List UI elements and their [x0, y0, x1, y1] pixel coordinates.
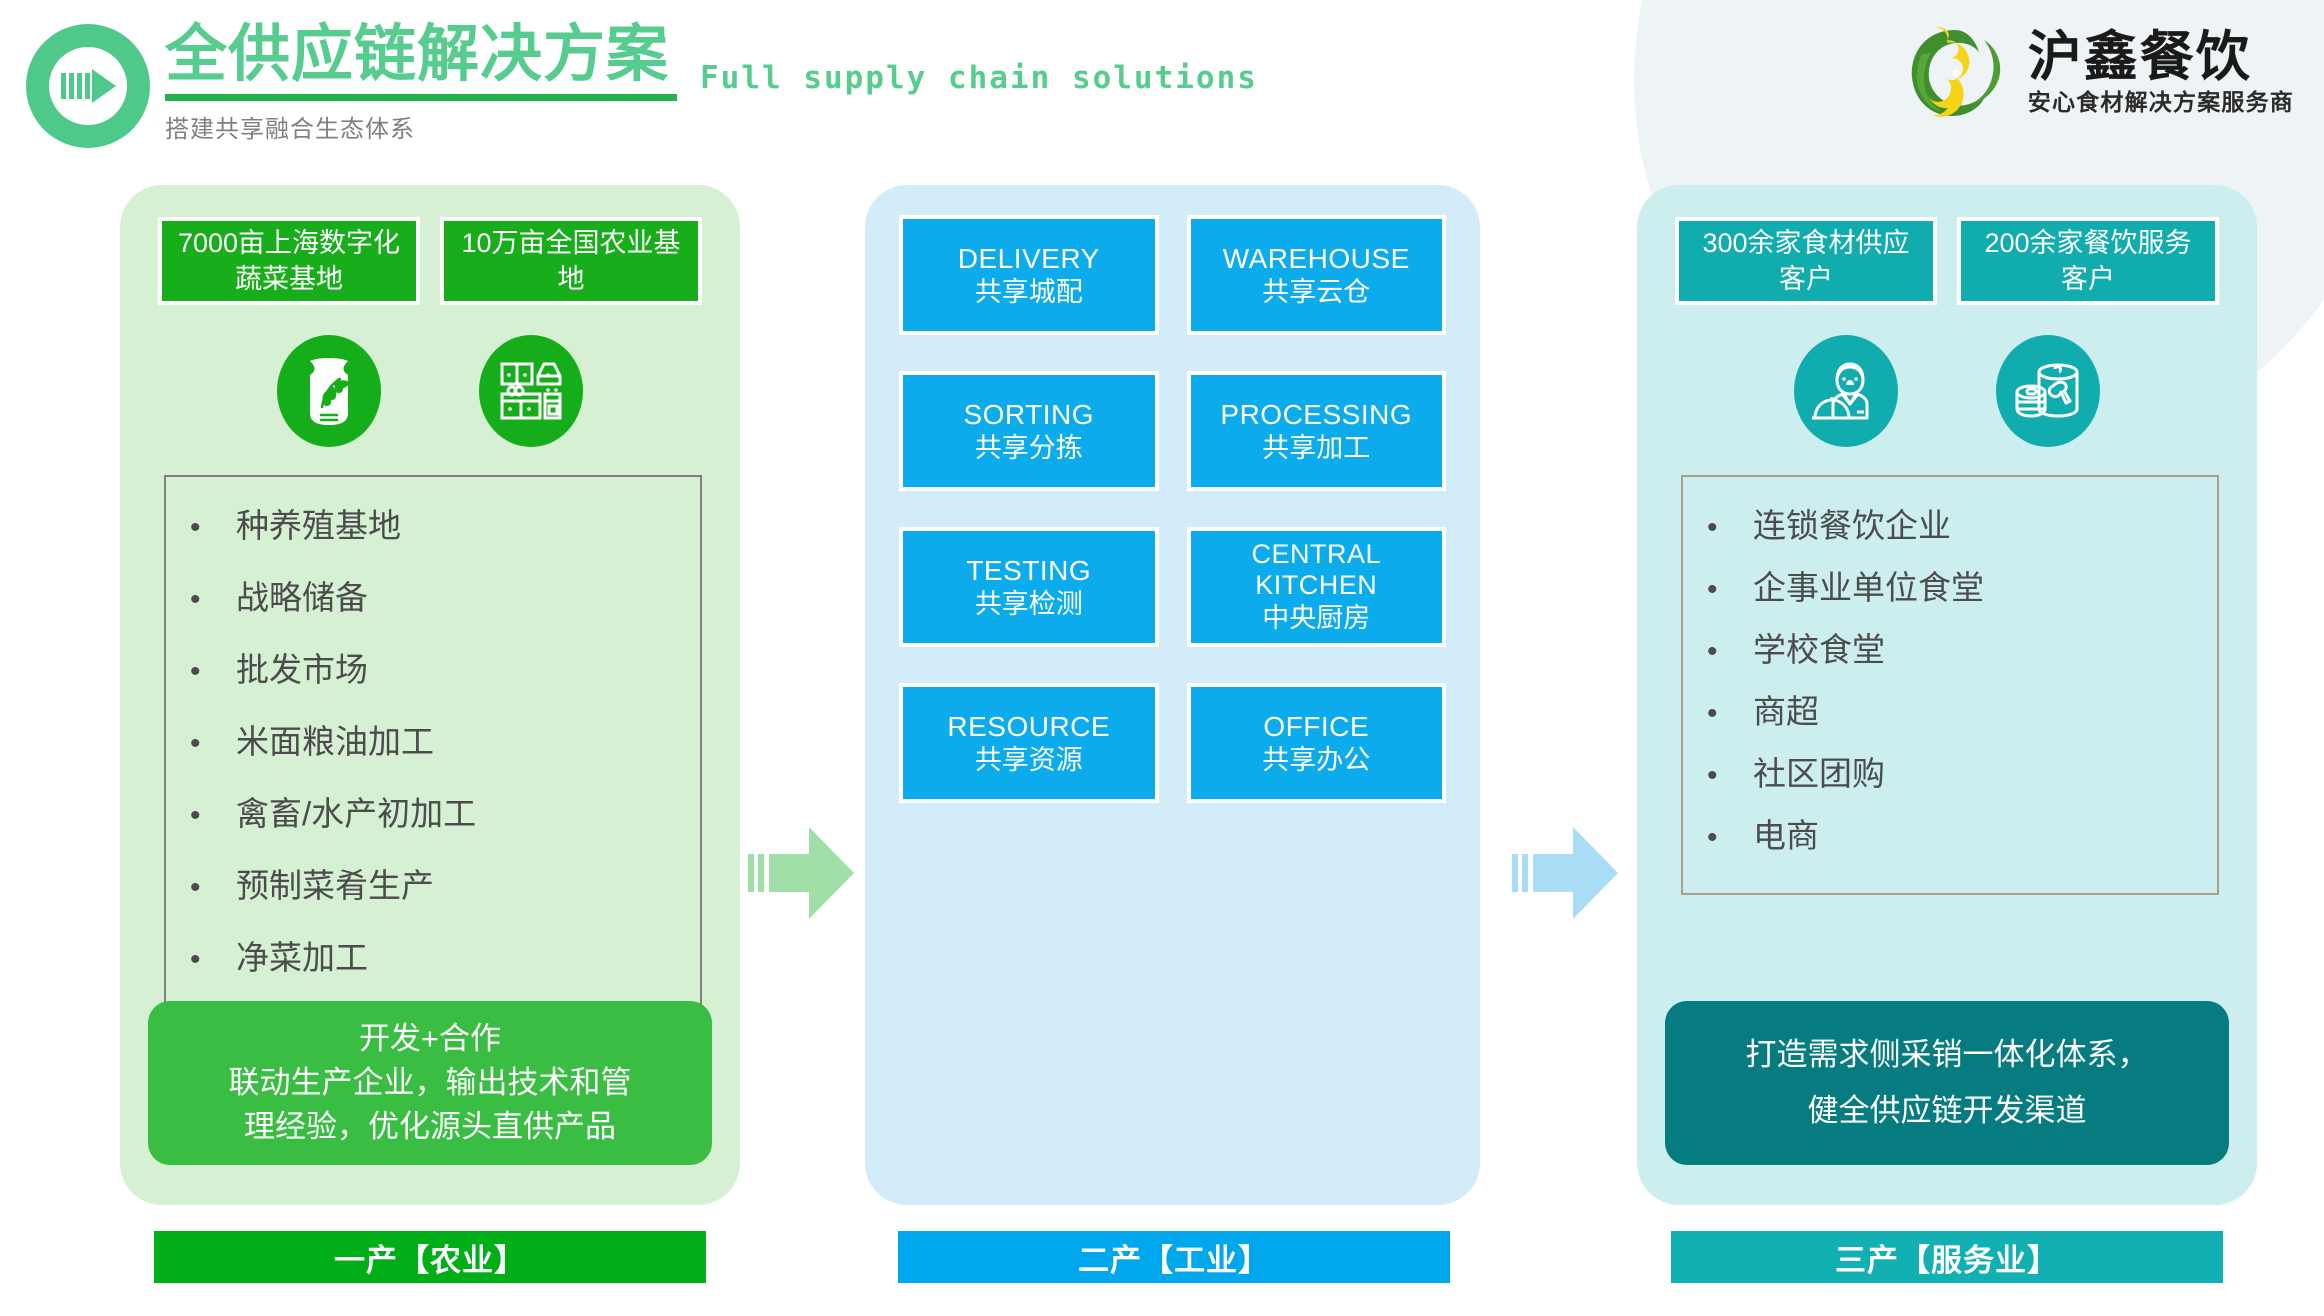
bullet-marker: •	[1707, 635, 1753, 669]
page-title: 全供应链解决方案	[165, 18, 677, 92]
list-item-label: 商超	[1753, 685, 1819, 733]
summary-line: 联动生产企业，输出技术和管	[170, 1061, 690, 1105]
bullet-marker: •	[1707, 821, 1753, 855]
brand-name: 沪鑫餐饮	[2028, 30, 2294, 84]
bullet-marker: •	[190, 871, 236, 905]
tile-sorting[interactable]: SORTING 共享分拣	[899, 371, 1159, 491]
list-item: • 电商	[1707, 809, 2205, 857]
bullet-marker: •	[190, 727, 236, 761]
bullet-marker: •	[190, 799, 236, 833]
list-item-label: 社区团购	[1753, 747, 1885, 795]
badge-catering-clients[interactable]: 200余家餐饮服务客户	[1957, 217, 2219, 305]
dragon-brush-circle-logo-icon	[1896, 16, 2014, 128]
secondary-panel: DELIVERY 共享城配 WAREHOUSE 共享云仓 SORTING 共享分…	[865, 185, 1480, 1205]
summary-line: 健全供应链开发渠道	[1687, 1083, 2207, 1139]
list-item: • 企事业单位食堂	[1707, 561, 2205, 609]
list-item: • 禽畜/水产初加工	[190, 787, 688, 835]
tile-label-en: SORTING	[963, 398, 1094, 431]
waiter-service-icon	[1794, 335, 1898, 447]
list-item-label: 米面粮油加工	[236, 715, 434, 763]
footer-label-primary: 一产【农业】	[154, 1231, 706, 1283]
primary-badge-row: 7000亩上海数字化蔬菜基地 10万亩全国农业基地	[148, 217, 712, 305]
summary-line: 打造需求侧采销一体化体系，	[1687, 1027, 2207, 1083]
header-title-group: 全供应链解决方案 搭建共享融合生态体系	[165, 18, 677, 144]
grain-sack-icon	[277, 335, 381, 447]
tertiary-badge-row: 300余家食材供应客户 200余家餐饮服务客户	[1665, 217, 2229, 305]
list-item: • 净菜加工	[190, 931, 688, 979]
tile-testing[interactable]: TESTING 共享检测	[899, 527, 1159, 647]
bullet-marker: •	[1707, 697, 1753, 731]
tile-label-cn: 共享城配	[975, 275, 1083, 309]
primary-panel: 7000亩上海数字化蔬菜基地 10万亩全国农业基地	[120, 185, 740, 1205]
bullet-marker: •	[1707, 511, 1753, 545]
tile-label-cn: 共享办公	[1262, 743, 1370, 777]
bullet-marker: •	[190, 511, 236, 545]
tile-office[interactable]: OFFICE 共享办公	[1187, 683, 1447, 803]
list-item: • 社区团购	[1707, 747, 2205, 795]
list-item-label: 预制菜肴生产	[236, 859, 434, 907]
column-primary-industry: 7000亩上海数字化蔬菜基地 10万亩全国农业基地	[120, 185, 740, 1205]
tile-label-cn: 共享资源	[975, 743, 1083, 777]
flow-arrow-green	[748, 823, 858, 928]
tile-central-kitchen[interactable]: CENTRAL KITCHEN 中央厨房	[1187, 527, 1447, 647]
tertiary-panel: 300余家食材供应客户 200余家餐饮服务客户	[1637, 185, 2257, 1205]
list-item: • 预制菜肴生产	[190, 859, 688, 907]
column-tertiary-industry: 300余家食材供应客户 200余家餐饮服务客户	[1637, 185, 2257, 1205]
list-item-label: 种养殖基地	[236, 499, 401, 547]
supply-chain-board: 7000亩上海数字化蔬菜基地 10万亩全国农业基地	[0, 185, 2324, 1316]
fast-forward-circle-icon	[26, 24, 150, 148]
tile-label-en: RESOURCE	[947, 710, 1110, 743]
tertiary-customer-list: • 连锁餐饮企业 • 企事业单位食堂 • 学校食堂 • 商超 • 社区团购	[1681, 475, 2219, 895]
footer-label-secondary: 二产【工业】	[898, 1231, 1450, 1283]
tile-label-en: CENTRAL KITCHEN	[1191, 539, 1443, 601]
column-secondary-industry: DELIVERY 共享城配 WAREHOUSE 共享云仓 SORTING 共享分…	[865, 185, 1480, 1205]
list-item: • 米面粮油加工	[190, 715, 688, 763]
flow-arrow-blue	[1512, 823, 1622, 928]
list-item-label: 电商	[1753, 809, 1819, 857]
list-item: • 战略储备	[190, 571, 688, 619]
tile-label-en: WAREHOUSE	[1223, 242, 1410, 275]
tile-label-en: DELIVERY	[958, 242, 1100, 275]
tile-label-cn: 共享分拣	[975, 431, 1083, 465]
list-item: • 连锁餐饮企业	[1707, 499, 2205, 547]
bullet-marker: •	[190, 655, 236, 689]
shared-service-tile-grid: DELIVERY 共享城配 WAREHOUSE 共享云仓 SORTING 共享分…	[893, 211, 1452, 803]
tile-delivery[interactable]: DELIVERY 共享城配	[899, 215, 1159, 335]
primary-summary-card: 开发+合作 联动生产企业，输出技术和管 理经验，优化源头直供产品	[148, 1001, 712, 1165]
bullet-marker: •	[190, 943, 236, 977]
tile-label-cn: 共享云仓	[1262, 275, 1370, 309]
tile-processing[interactable]: PROCESSING 共享加工	[1187, 371, 1447, 491]
summary-line: 理经验，优化源头直供产品	[170, 1105, 690, 1149]
badge-vegetable-base[interactable]: 7000亩上海数字化蔬菜基地	[158, 217, 420, 305]
list-item: • 学校食堂	[1707, 623, 2205, 671]
tile-label-en: PROCESSING	[1220, 398, 1412, 431]
badge-ingredient-clients[interactable]: 300余家食材供应客户	[1675, 217, 1937, 305]
list-item: • 商超	[1707, 685, 2205, 733]
tertiary-icon-row	[1665, 335, 2229, 447]
tile-label-cn: 中央厨房	[1262, 601, 1370, 635]
tertiary-summary-card: 打造需求侧采销一体化体系， 健全供应链开发渠道	[1665, 1001, 2229, 1165]
tile-resource[interactable]: RESOURCE 共享资源	[899, 683, 1159, 803]
tile-label-cn: 共享检测	[975, 587, 1083, 621]
list-item-label: 批发市场	[236, 643, 368, 691]
primary-capability-list: • 种养殖基地 • 战略储备 • 批发市场 • 米面粮油加工 • 禽畜/水产	[164, 475, 702, 1027]
list-item-label: 企事业单位食堂	[1753, 561, 1984, 609]
canned-food-icon	[1996, 335, 2100, 447]
list-item-label: 净菜加工	[236, 931, 368, 979]
tile-warehouse[interactable]: WAREHOUSE 共享云仓	[1187, 215, 1447, 335]
bullet-marker: •	[1707, 759, 1753, 793]
page-title-english: Full supply chain solutions	[700, 60, 1258, 96]
list-item-label: 战略储备	[236, 571, 368, 619]
page-subtitle: 搭建共享融合生态体系	[165, 109, 677, 144]
primary-icon-row	[148, 335, 712, 447]
bullet-marker: •	[190, 583, 236, 617]
tile-label-cn: 共享加工	[1262, 431, 1370, 465]
bullet-marker: •	[1707, 573, 1753, 607]
list-item-label: 连锁餐饮企业	[1753, 499, 1951, 547]
title-underline	[165, 94, 677, 101]
footer-label-tertiary: 三产【服务业】	[1671, 1231, 2223, 1283]
brand-tagline: 安心食材解决方案服务商	[2028, 91, 2294, 114]
list-item-label: 禽畜/水产初加工	[236, 787, 476, 835]
tile-label-en: OFFICE	[1263, 710, 1369, 743]
summary-line: 开发+合作	[170, 1017, 690, 1061]
list-item-label: 学校食堂	[1753, 623, 1885, 671]
farm-kitchen-building-icon	[479, 335, 583, 447]
list-item: • 种养殖基地	[190, 499, 688, 547]
tile-label-en: TESTING	[966, 554, 1091, 587]
brand-logo: 沪鑫餐饮 安心食材解决方案服务商	[1896, 16, 2294, 128]
list-item: • 批发市场	[190, 643, 688, 691]
badge-national-agri-base[interactable]: 10万亩全国农业基地	[440, 217, 702, 305]
